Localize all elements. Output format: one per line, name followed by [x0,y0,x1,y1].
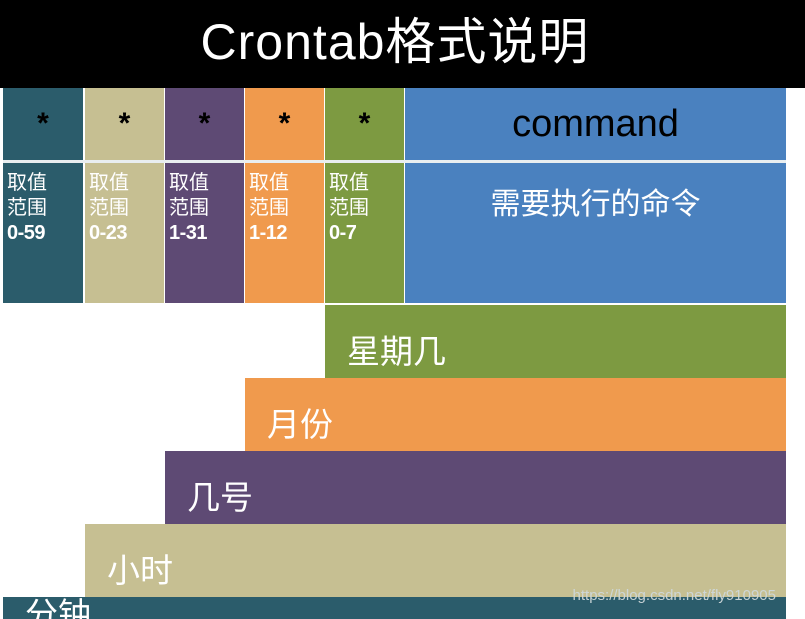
range-value: 0-59 [7,221,83,246]
range-label-line2: 范围 [249,196,324,221]
asterisk-icon: * [3,88,83,160]
star-cell-minute: * [3,88,83,160]
range-label-line1: 取值 [249,171,324,196]
star-cell-month: * [245,88,324,160]
band-day-of-month: 几号 [165,451,786,524]
range-cell-day-of-month: 取值 范围 1-31 [165,163,244,303]
asterisk-icon: * [245,88,324,160]
star-cell-day-of-month: * [165,88,244,160]
diagram-body: * * * * * command 取值 范围 0-59 取值 范围 0-23 … [3,88,786,619]
range-label-line2: 范围 [169,196,244,221]
range-label-line2: 范围 [89,196,164,221]
star-cell-weekday: * [325,88,404,160]
title-bar: Crontab格式说明 [0,0,805,88]
range-value: 0-7 [329,221,404,246]
range-cell-minute: 取值 范围 0-59 [3,163,83,303]
page-title: Crontab格式说明 [0,4,790,80]
watermark-url: https://blog.csdn.net/fly910905 [573,586,776,606]
range-label-line1: 取值 [7,171,83,196]
range-label-line1: 取值 [329,171,404,196]
band-label-day-of-month: 几号 [187,478,253,518]
range-cell-hour: 取值 范围 0-23 [85,163,164,303]
band-month: 月份 [245,378,786,451]
range-value: 1-31 [169,221,244,246]
range-label-line1: 取值 [169,171,244,196]
crontab-format-diagram: Crontab格式说明 * * * * * command 取值 范围 0-59… [0,0,805,619]
band-label-weekday: 星期几 [347,332,446,372]
seam-header-divider [3,160,786,163]
asterisk-icon: * [165,88,244,160]
asterisk-icon: * [85,88,164,160]
band-label-month: 月份 [267,405,333,445]
range-label-line2: 范围 [7,196,83,221]
range-cell-weekday: 取值 范围 0-7 [325,163,404,303]
range-value: 0-23 [89,221,164,246]
star-cell-hour: * [85,88,164,160]
asterisk-icon: * [325,88,404,160]
band-label-hour: 小时 [107,551,173,591]
command-description-label: 需要执行的命令 [405,185,786,225]
range-value: 1-12 [249,221,324,246]
command-description-cell: 需要执行的命令 [405,163,786,303]
band-label-minute: 分钟 [25,595,91,619]
band-weekday: 星期几 [325,305,786,378]
range-cell-month: 取值 范围 1-12 [245,163,324,303]
range-label-line1: 取值 [89,171,164,196]
range-label-line2: 范围 [329,196,404,221]
command-header-label: command [405,88,786,160]
command-header-cell: command [405,88,786,160]
